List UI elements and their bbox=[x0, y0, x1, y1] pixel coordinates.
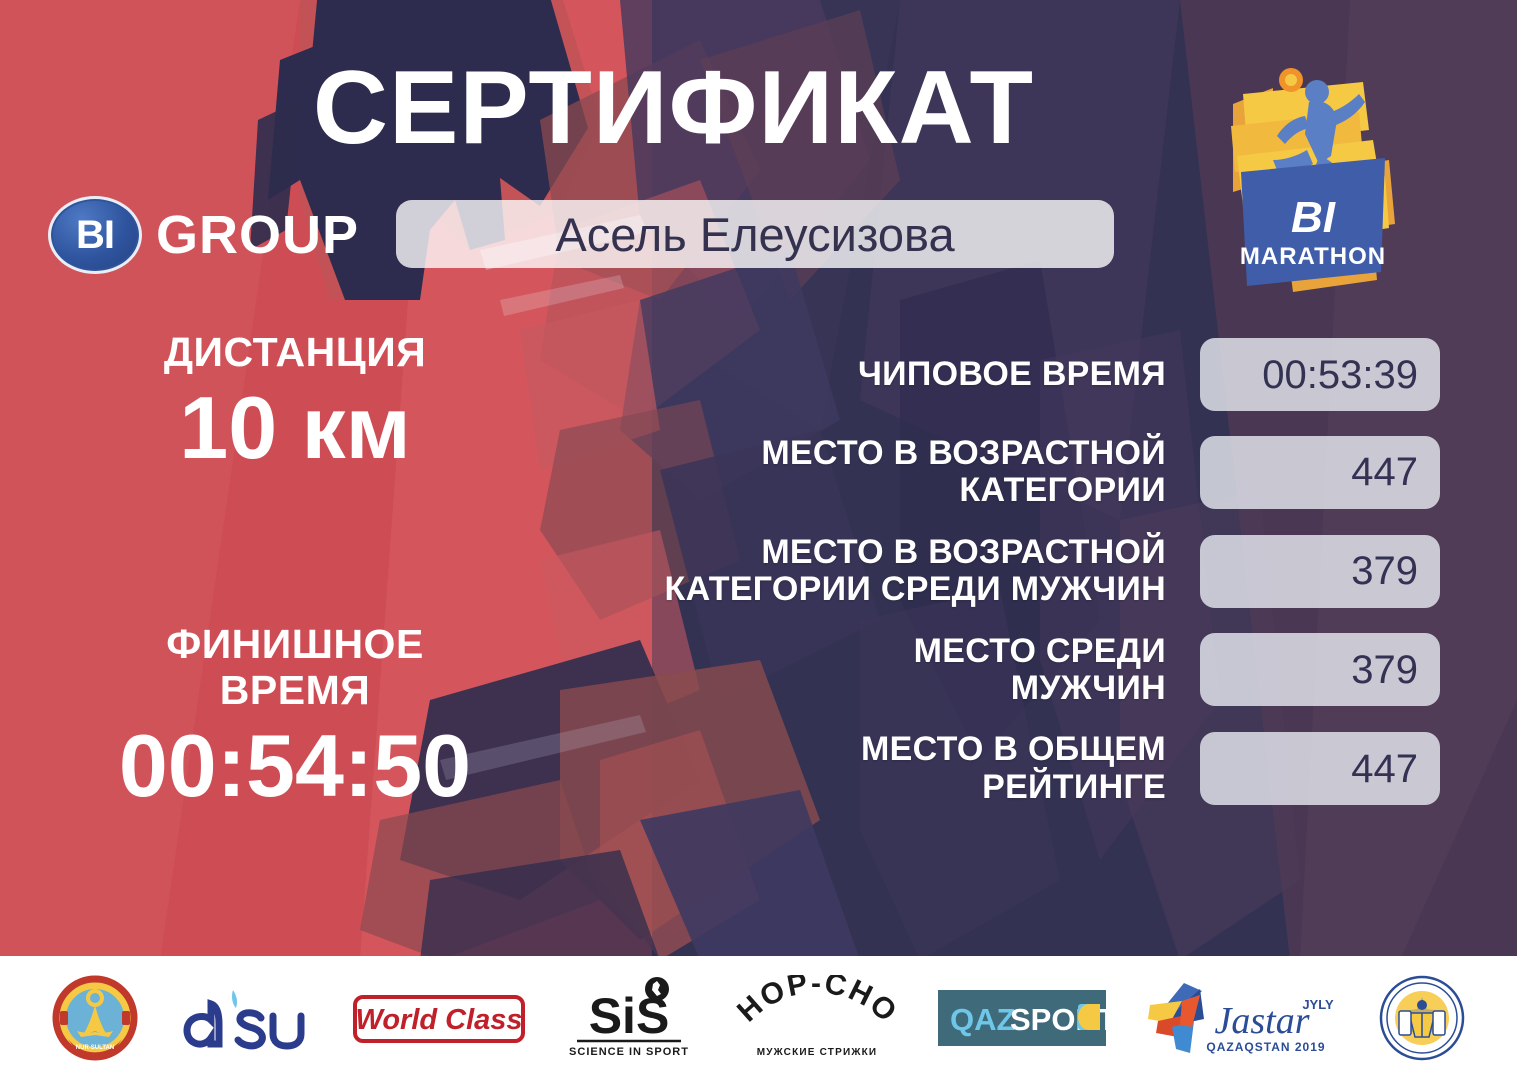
chop-chop-subtext: МУЖСКИЕ СТРИЖКИ bbox=[756, 1047, 877, 1058]
finish-time-block: ФИНИШНОЕ ВРЕМЯ 00:54:50 bbox=[0, 622, 590, 812]
sponsor-qazsport: QAZ SPORT bbox=[938, 968, 1106, 1068]
stat-label-line1: МЕСТО В ОБЩЕМ bbox=[520, 731, 1166, 768]
sponsor-ministry-seal bbox=[1379, 968, 1465, 1068]
stat-row-men-place: МЕСТО СРЕДИ МУЖЧИН 379 bbox=[520, 633, 1440, 708]
left-spacer bbox=[0, 474, 590, 622]
bi-marathon-logo: BI MARATHON bbox=[1213, 60, 1413, 300]
stat-row-age-category-place: МЕСТО В ВОЗРАСТНОЙ КАТЕГОРИИ 447 bbox=[520, 435, 1440, 510]
left-stats-column: ДИСТАНЦИЯ 10 км ФИНИШНОЕ ВРЕМЯ 00:54:50 bbox=[0, 330, 590, 813]
stat-label: МЕСТО В ВОЗРАСТНОЙ КАТЕГОРИИ bbox=[520, 435, 1166, 510]
world-class-text: World Class bbox=[355, 1004, 522, 1036]
stat-label-line1: МЕСТО СРЕДИ bbox=[520, 633, 1166, 670]
certificate-canvas: СЕРТИФИКАТ BI GROUP Асель Елеусизова bbox=[0, 0, 1517, 1080]
stat-label: МЕСТО СРЕДИ МУЖЧИН bbox=[520, 633, 1166, 708]
distance-block: ДИСТАНЦИЯ 10 км bbox=[0, 330, 590, 474]
sis-text: SiS bbox=[589, 988, 670, 1044]
sis-subtext: SCIENCE IN SPORT bbox=[569, 1046, 689, 1058]
right-stats-column: ЧИПОВОЕ ВРЕМЯ 00:53:39 МЕСТО В ВОЗРАСТНО… bbox=[520, 338, 1440, 830]
finish-time-label-line2: ВРЕМЯ bbox=[0, 668, 590, 714]
sponsor-asu bbox=[175, 968, 315, 1068]
stat-value-pill: 447 bbox=[1200, 436, 1440, 509]
stat-value: 447 bbox=[1351, 452, 1418, 492]
stat-label-line2: КАТЕГОРИИ СРЕДИ МУЖЧИН bbox=[520, 571, 1166, 608]
marathon-word-text: MARATHON bbox=[1240, 243, 1386, 270]
stat-value: 379 bbox=[1351, 650, 1418, 690]
bi-group-word: GROUP bbox=[156, 208, 359, 262]
bi-badge-label: BI bbox=[76, 215, 114, 255]
jastar-super-text: JYLY bbox=[1303, 997, 1335, 1012]
stat-label: МЕСТО В ОБЩЕМ РЕЙТИНГЕ bbox=[520, 731, 1166, 806]
stat-value: 379 bbox=[1351, 551, 1418, 591]
stat-label-line2: КАТЕГОРИИ bbox=[520, 472, 1166, 509]
finish-time-label-line1: ФИНИШНОЕ bbox=[0, 622, 590, 668]
sponsor-world-class: World Class bbox=[351, 968, 527, 1068]
stat-value: 447 bbox=[1351, 749, 1418, 789]
stat-label: МЕСТО В ВОЗРАСТНОЙ КАТЕГОРИИ СРЕДИ МУЖЧИ… bbox=[520, 534, 1166, 609]
sponsor-sis: SiS SCIENCE IN SPORT bbox=[563, 968, 695, 1068]
stat-value-pill: 447 bbox=[1200, 732, 1440, 805]
stat-row-age-category-men-place: МЕСТО В ВОЗРАСТНОЙ КАТЕГОРИИ СРЕДИ МУЖЧИ… bbox=[520, 534, 1440, 609]
stat-label-line2: МУЖЧИН bbox=[520, 670, 1166, 707]
distance-value: 10 км bbox=[0, 382, 590, 474]
qazsport-text-a: QAZ bbox=[950, 1002, 1016, 1037]
stat-value-pill: 379 bbox=[1200, 535, 1440, 608]
sponsor-chop-chop: CHOP-CHOP МУЖСКИЕ СТРИЖКИ bbox=[732, 968, 902, 1068]
distance-label: ДИСТАНЦИЯ bbox=[0, 330, 590, 376]
stat-label-line1: МЕСТО В ВОЗРАСТНОЙ bbox=[520, 435, 1166, 472]
chop-chop-text: CHOP-CHOP bbox=[732, 975, 902, 1030]
stat-value-pill: 00:53:39 bbox=[1200, 338, 1440, 411]
stat-row-chip-time: ЧИПОВОЕ ВРЕМЯ 00:53:39 bbox=[520, 338, 1440, 411]
jastar-text: Jastar bbox=[1215, 1000, 1310, 1042]
sponsor-bar: NUR-SULTAN World Class bbox=[0, 956, 1517, 1080]
stat-label-line1: ЧИПОВОЕ ВРЕМЯ bbox=[520, 356, 1166, 393]
participant-name: Асель Елеусизова bbox=[555, 211, 954, 258]
nur-sultan-text: NUR-SULTAN bbox=[76, 1045, 114, 1051]
sponsor-nur-sultan-emblem: NUR-SULTAN bbox=[52, 968, 138, 1068]
participant-name-field: Асель Елеусизова bbox=[396, 200, 1114, 268]
marathon-bi-text: BI bbox=[1291, 193, 1336, 242]
stat-row-overall-place: МЕСТО В ОБЩЕМ РЕЙТИНГЕ 447 bbox=[520, 731, 1440, 806]
jastar-subtext: QAZAQSTAN 2019 bbox=[1207, 1040, 1326, 1054]
finish-time-value: 00:54:50 bbox=[0, 720, 590, 812]
sponsor-jastar-jyly: Jastar JYLY QAZAQSTAN 2019 bbox=[1142, 968, 1342, 1068]
stat-label: ЧИПОВОЕ ВРЕМЯ bbox=[520, 356, 1166, 393]
stat-value: 00:53:39 bbox=[1262, 355, 1418, 395]
bi-group-logo: BI GROUP bbox=[48, 196, 359, 274]
stat-value-pill: 379 bbox=[1200, 633, 1440, 706]
stat-label-line1: МЕСТО В ВОЗРАСТНОЙ bbox=[520, 534, 1166, 571]
bi-badge-icon: BI bbox=[48, 196, 142, 274]
stat-label-line2: РЕЙТИНГЕ bbox=[520, 769, 1166, 806]
